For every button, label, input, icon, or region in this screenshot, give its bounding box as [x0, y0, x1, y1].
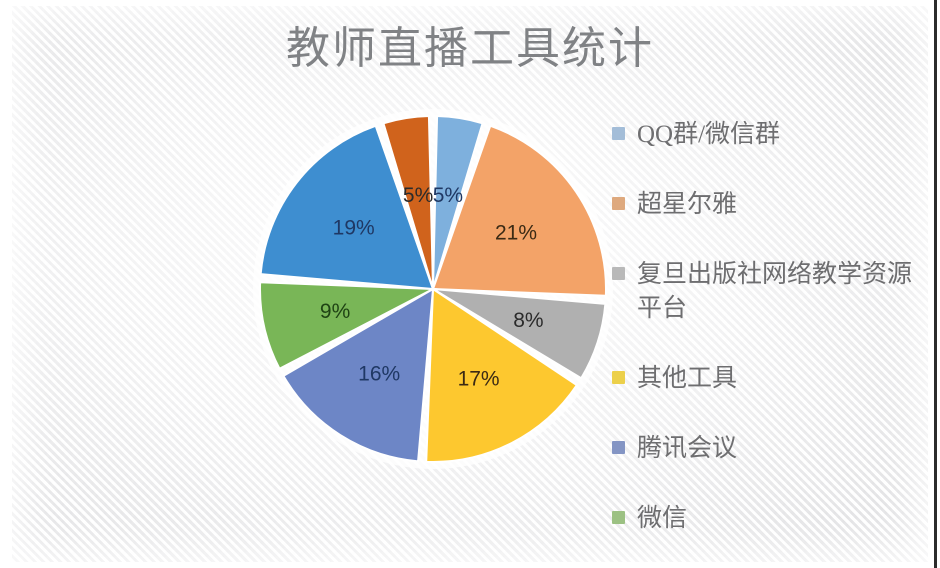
legend-swatch-icon — [612, 371, 625, 384]
slide-canvas: 教师直播工具统计 5%21%8%17%16%9%19%5% QQ群/微信群超星尔… — [0, 0, 940, 568]
pie-chart: 5%21%8%17%16%9%19%5% — [247, 103, 619, 475]
legend-item-label: QQ群/微信群 — [637, 118, 780, 152]
legend-swatch-icon — [612, 267, 625, 280]
legend-item[interactable]: 超星尔雅 — [612, 188, 934, 222]
slide-right-border — [934, 0, 937, 568]
pie-slice-label: 19% — [333, 217, 375, 240]
chart-title: 教师直播工具统计 — [0, 22, 940, 76]
pie-slice-label: 21% — [495, 222, 537, 245]
pie-slice-label: 9% — [320, 300, 350, 323]
pie-chart-svg: 5%21%8%17%16%9%19%5% — [247, 103, 619, 475]
legend-item[interactable]: QQ群/微信群 — [612, 118, 934, 152]
legend-item[interactable]: 腾讯会议 — [612, 432, 934, 466]
legend-swatch-icon — [612, 197, 625, 210]
legend-item-label: 腾讯会议 — [637, 432, 737, 466]
legend-item[interactable]: 微信 — [612, 502, 934, 536]
legend-swatch-icon — [612, 127, 625, 140]
legend-item-label: 微信 — [637, 502, 687, 536]
legend-swatch-icon — [612, 441, 625, 454]
legend-item[interactable]: 复旦出版社网络教学资源平台 — [612, 258, 934, 326]
legend-item[interactable]: 其他工具 — [612, 362, 934, 396]
legend-swatch-icon — [612, 511, 625, 524]
pie-slice-label: 17% — [458, 367, 500, 390]
pie-slice-label: 16% — [358, 363, 400, 386]
pie-slice-label: 8% — [513, 309, 543, 332]
pie-slice-label: 5% — [403, 184, 433, 207]
pie-slice-label: 5% — [433, 184, 463, 207]
chart-legend: QQ群/微信群超星尔雅复旦出版社网络教学资源平台其他工具腾讯会议微信 — [612, 118, 934, 568]
legend-item-label: 超星尔雅 — [637, 188, 737, 222]
legend-item-label: 复旦出版社网络教学资源平台 — [637, 258, 925, 326]
legend-item-label: 其他工具 — [637, 362, 737, 396]
